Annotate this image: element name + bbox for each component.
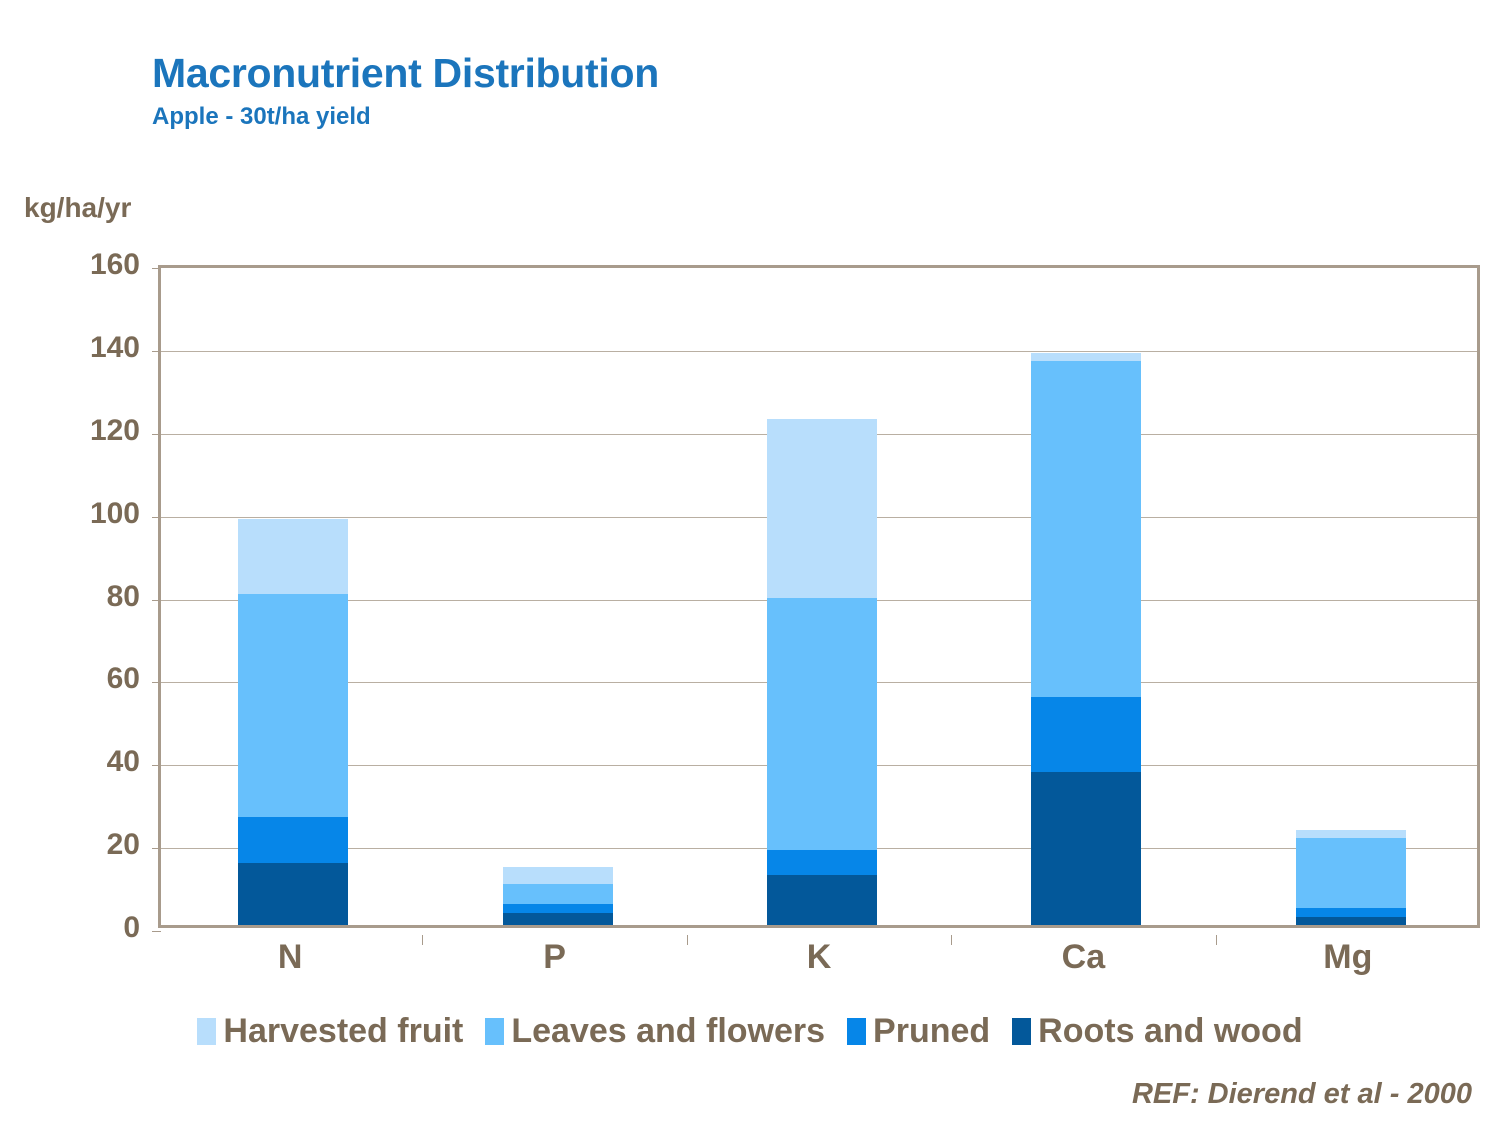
bar-group-ca[interactable] xyxy=(1031,262,1141,925)
gridline xyxy=(161,517,1477,518)
chart-subtitle: Apple - 30t/ha yield xyxy=(152,103,659,131)
chart-legend: Harvested fruitLeaves and flowersPrunedR… xyxy=(0,1012,1500,1051)
y-axis-tick-label: 100 xyxy=(90,497,140,531)
x-axis-tick-label-mg: Mg xyxy=(1323,938,1372,977)
bar-segment[interactable] xyxy=(767,598,877,851)
legend-item[interactable]: Pruned xyxy=(847,1012,990,1051)
bar-segment[interactable] xyxy=(767,419,877,597)
bar-group-k[interactable] xyxy=(767,262,877,925)
bar-segment[interactable] xyxy=(238,594,348,818)
gridline xyxy=(161,434,1477,435)
y-axis-tick-label: 120 xyxy=(90,414,140,448)
y-axis-tick-label: 0 xyxy=(123,911,140,945)
y-axis-unit-label: kg/ha/yr xyxy=(24,192,131,224)
bar-segment[interactable] xyxy=(503,884,613,905)
y-axis-tick-mark xyxy=(152,600,161,601)
x-axis-tick-mark xyxy=(687,935,688,945)
y-axis-tick-label: 140 xyxy=(90,331,140,365)
page-title: Macronutrient Distribution xyxy=(152,52,659,95)
gridline xyxy=(161,351,1477,352)
gridline xyxy=(161,600,1477,601)
y-axis-tick-label: 160 xyxy=(90,248,140,282)
legend-swatch-icon xyxy=(847,1018,866,1045)
y-axis-tick-mark xyxy=(152,848,161,849)
y-axis-tick-mark xyxy=(152,765,161,766)
legend-item-label: Pruned xyxy=(873,1012,990,1051)
y-axis-tick-label: 80 xyxy=(107,580,140,614)
chart-plot-area xyxy=(158,265,1480,928)
title-block: Macronutrient Distribution Apple - 30t/h… xyxy=(152,52,659,131)
bar-segment[interactable] xyxy=(1296,917,1406,925)
bar-segment[interactable] xyxy=(503,867,613,884)
y-axis-tick-mark xyxy=(152,351,161,352)
y-axis-tick-mark xyxy=(152,682,161,683)
gridline xyxy=(161,848,1477,849)
legend-item-label: Harvested fruit xyxy=(223,1012,463,1051)
chart-plot-wrapper xyxy=(158,265,1480,928)
bar-segment[interactable] xyxy=(1031,353,1141,361)
y-axis-tick-label: 60 xyxy=(107,662,140,696)
y-axis-tick-label: 40 xyxy=(107,745,140,779)
bar-segment[interactable] xyxy=(1031,697,1141,772)
bar-segment[interactable] xyxy=(767,875,877,925)
legend-item-label: Leaves and flowers xyxy=(511,1012,825,1051)
y-axis-tick-label: 20 xyxy=(107,828,140,862)
bar-segment[interactable] xyxy=(1296,830,1406,838)
bar-segment[interactable] xyxy=(238,863,348,925)
legend-swatch-icon xyxy=(485,1018,504,1045)
legend-item[interactable]: Leaves and flowers xyxy=(485,1012,825,1051)
gridline xyxy=(161,682,1477,683)
legend-item[interactable]: Harvested fruit xyxy=(197,1012,463,1051)
bar-segment[interactable] xyxy=(767,850,877,875)
y-axis-tick-mark xyxy=(152,268,161,269)
y-axis-tick-mark xyxy=(152,931,161,932)
bar-segment[interactable] xyxy=(503,904,613,912)
y-axis-tick-mark xyxy=(152,517,161,518)
x-axis-tick-mark xyxy=(951,935,952,945)
legend-swatch-icon xyxy=(197,1018,216,1045)
bars-layer xyxy=(161,268,1477,925)
legend-item[interactable]: Roots and wood xyxy=(1012,1012,1302,1051)
x-axis-tick-label-ca: Ca xyxy=(1062,938,1105,977)
x-axis-tick-mark xyxy=(1216,935,1217,945)
bar-segment[interactable] xyxy=(238,817,348,863)
x-axis-tick-label-n: N xyxy=(278,938,303,977)
y-axis-tick-labels: 020406080100120140160 xyxy=(28,265,140,928)
bar-segment[interactable] xyxy=(238,519,348,594)
legend-swatch-icon xyxy=(1012,1018,1031,1045)
x-axis-tick-mark xyxy=(422,935,423,945)
bar-group-p[interactable] xyxy=(503,262,613,925)
bar-group-mg[interactable] xyxy=(1296,262,1406,925)
bar-segment[interactable] xyxy=(1296,908,1406,916)
legend-item-label: Roots and wood xyxy=(1038,1012,1302,1051)
gridline xyxy=(161,765,1477,766)
reference-note: REF: Dierend et al - 2000 xyxy=(1132,1078,1472,1111)
bar-segment[interactable] xyxy=(503,913,613,925)
x-axis-tick-labels: NPKCaMg xyxy=(158,938,1480,994)
x-axis-tick-label-k: K xyxy=(807,938,832,977)
x-axis-tick-label-p: P xyxy=(543,938,566,977)
bar-group-n[interactable] xyxy=(238,262,348,925)
bar-segment[interactable] xyxy=(1031,361,1141,697)
y-axis-tick-mark xyxy=(152,434,161,435)
